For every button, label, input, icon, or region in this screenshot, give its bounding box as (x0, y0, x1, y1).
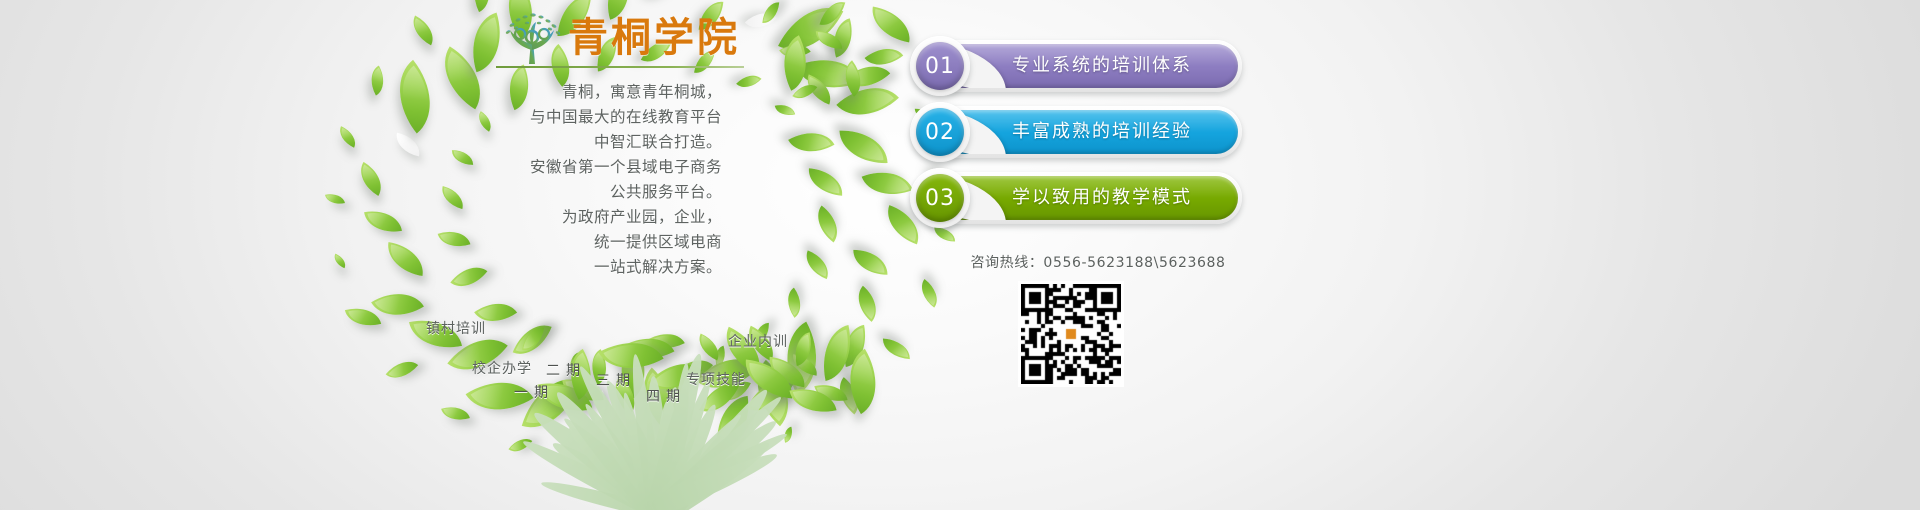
feature-label: 丰富成熟的培训经验 (1012, 110, 1192, 154)
description-line: 与中国最大的在线教育平台 (430, 105, 722, 130)
leaf-icon (808, 169, 845, 196)
description-line: 一站式解决方案。 (430, 255, 722, 280)
leaf-icon (386, 353, 419, 387)
leaf-icon (735, 69, 761, 95)
logo-title: 青桐学院 (568, 12, 740, 64)
leaf-icon (335, 126, 360, 148)
description-line: 公共服务平台。 (430, 180, 722, 205)
leaf-icon (325, 191, 345, 206)
leaf-icon (364, 65, 391, 95)
logo-underline (496, 66, 744, 68)
feature-list: 专业系统的培训体系01丰富成熟的培训经验02学以致用的教学模式03 (912, 40, 1242, 238)
leaf-icon (868, 7, 914, 43)
leaf-icon (364, 206, 402, 236)
description-line: 中智汇联合打造。 (430, 130, 722, 155)
description-line: 青桐，寓意青年桐城， (430, 80, 722, 105)
bottom-label: 一期 (514, 382, 554, 402)
leaf-icon (331, 254, 348, 268)
bottom-label: 企业内训 (728, 331, 788, 351)
feature-bar-02[interactable]: 丰富成熟的培训经验02 (912, 106, 1242, 158)
leaf-icon (801, 251, 834, 280)
feature-label: 专业系统的培训体系 (1012, 44, 1192, 88)
leaf-icon (442, 402, 471, 425)
tree-icon (496, 10, 568, 66)
bottom-label: 镇村培训 (426, 318, 486, 338)
bottom-label: 三期 (596, 370, 636, 390)
description-text: 青桐，寓意青年桐城，与中国最大的在线教育平台中智汇联合打造。安徽省第一个县域电子… (430, 80, 722, 280)
bottom-label: 校企办学 (472, 358, 532, 378)
bottom-label: 四期 (646, 386, 686, 406)
leaf-icon (774, 102, 794, 118)
leaf-icon (809, 206, 848, 243)
leaf-icon (849, 286, 886, 322)
leaf-icon (839, 130, 887, 165)
leaf-icon (853, 250, 887, 275)
leaf-icon (466, 0, 500, 12)
feature-number: 01 (916, 42, 964, 90)
feature-label: 学以致用的教学模式 (1012, 176, 1192, 220)
leaf-icon (780, 287, 809, 317)
feature-bar-03[interactable]: 学以致用的教学模式03 (912, 172, 1242, 224)
bottom-label: 二期 (546, 360, 586, 380)
hotline-text: 咨询热线：0556-5623188\5623688 (948, 252, 1248, 272)
feature-bar-01[interactable]: 专业系统的培训体系01 (912, 40, 1242, 92)
description-line: 统一提供区域电商 (430, 230, 722, 255)
leaf-icon (882, 338, 911, 359)
leaf-icon (788, 121, 835, 163)
banner-canvas: 青桐学院 青桐，寓意青年桐城，与中国最大的在线教育平台中智汇联合打造。安徽省第一… (0, 0, 1920, 510)
qr-code (1018, 281, 1124, 387)
leaf-icon (393, 132, 422, 155)
leaf-icon (862, 161, 913, 205)
feature-number: 02 (916, 108, 964, 156)
description-line: 安徽省第一个县域电子商务 (430, 155, 722, 180)
leaf-icon (384, 242, 427, 276)
description-line: 为政府产业园，企业， (430, 205, 722, 230)
bottom-label: 专项技能 (686, 369, 746, 389)
feature-number: 03 (916, 174, 964, 222)
leaf-icon (407, 16, 441, 46)
leaf-icon (650, 0, 687, 6)
leaf-icon (352, 162, 389, 196)
leaf-icon (914, 279, 944, 307)
